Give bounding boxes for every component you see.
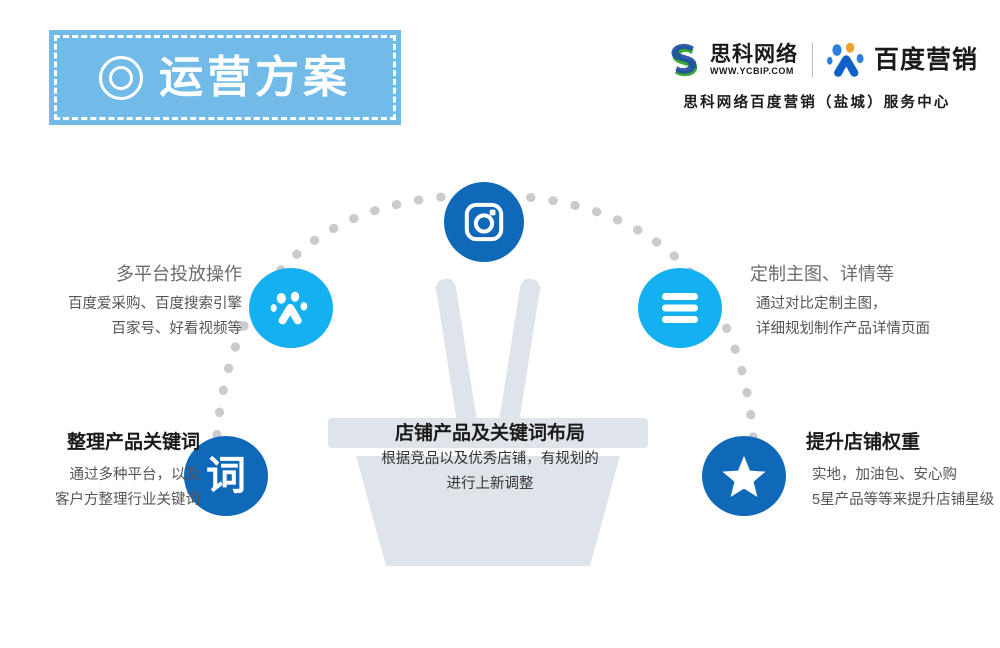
left-bottom-heading: 整理产品关键词 (20, 430, 200, 456)
brand-logo-block: 思科网络 WWW.YCBIP.COM 百度营销 思科网络百度营销（盐城）服务中心 (656, 38, 978, 112)
title-banner: 运营方案 (49, 30, 401, 125)
right-top-heading: 定制主图、详情等 (750, 262, 990, 286)
poster-canvas: 运营方案 思科网络 WWW.YCBIP.COM (0, 0, 1000, 648)
sico-swoosh-icon (666, 41, 704, 79)
baidu-logo-text: 百度营销 (874, 48, 978, 73)
hamburger-menu-icon (660, 291, 700, 325)
right-bottom-line-1: 实地，加油包、安心购 (806, 463, 996, 488)
shopping-basket-graphic (318, 270, 658, 570)
text-block-right-top: 定制主图、详情等 通过对比定制主图， 详细规划制作产品详情页面 (750, 262, 990, 342)
sico-logo-url: WWW.YCBIP.COM (710, 67, 798, 76)
sico-logo-text: 思科网络 (710, 44, 798, 65)
right-bottom-line-2: 5星产品等等来提升店铺星级 (806, 488, 996, 513)
left-bottom-line-2: 客户方整理行业关键词 (20, 488, 200, 513)
node-left-baidu[interactable] (249, 268, 333, 348)
text-block-right-bottom: 提升店铺权重 实地，加油包、安心购 5星产品等等来提升店铺星级 (806, 430, 996, 513)
baidu-paw-icon (827, 43, 867, 77)
logo-divider (812, 43, 813, 77)
left-top-line-1: 百度爱采购、百度搜索引擎 (0, 292, 242, 317)
center-line-1: 根据竞品以及优秀店铺，有规划的 (320, 447, 660, 472)
node-right-menu[interactable] (638, 268, 722, 348)
double-circle-icon (99, 56, 143, 100)
service-center-subtitle: 思科网络百度营销（盐城）服务中心 (656, 91, 978, 112)
right-top-line-2: 详细规划制作产品详情页面 (750, 317, 990, 342)
process-diagram: 词 多平台投放操作 百度爱采购、百度搜索引擎 百家号、好看视频等 整理产品关键词… (0, 150, 1000, 570)
text-block-left-bottom: 整理产品关键词 通过多种平台，以及 客户方整理行业关键词 (20, 430, 200, 513)
right-bottom-heading: 提升店铺权重 (806, 430, 996, 456)
left-bottom-line-1: 通过多种平台，以及 (20, 463, 200, 488)
right-top-line-1: 通过对比定制主图， (750, 292, 990, 317)
text-block-left-top: 多平台投放操作 百度爱采购、百度搜索引擎 百家号、好看视频等 (0, 262, 242, 342)
center-heading: 店铺产品及关键词布局 (320, 422, 660, 447)
node-bottom-right-star[interactable] (702, 436, 786, 516)
left-top-heading: 多平台投放操作 (0, 262, 242, 286)
page-title: 运营方案 (159, 56, 351, 100)
character-ci-icon: 词 (206, 456, 246, 496)
left-top-line-2: 百家号、好看视频等 (0, 317, 242, 342)
node-top-camera[interactable] (444, 182, 524, 262)
baidu-logo: 百度营销 (827, 43, 978, 77)
star-icon (721, 454, 767, 498)
center-line-2: 进行上新调整 (320, 472, 660, 497)
sico-logo: 思科网络 WWW.YCBIP.COM (666, 41, 798, 79)
baidu-paw-icon (270, 289, 312, 327)
camera-instagram-icon (463, 201, 505, 243)
text-block-center: 店铺产品及关键词布局 根据竞品以及优秀店铺，有规划的 进行上新调整 (320, 422, 660, 497)
